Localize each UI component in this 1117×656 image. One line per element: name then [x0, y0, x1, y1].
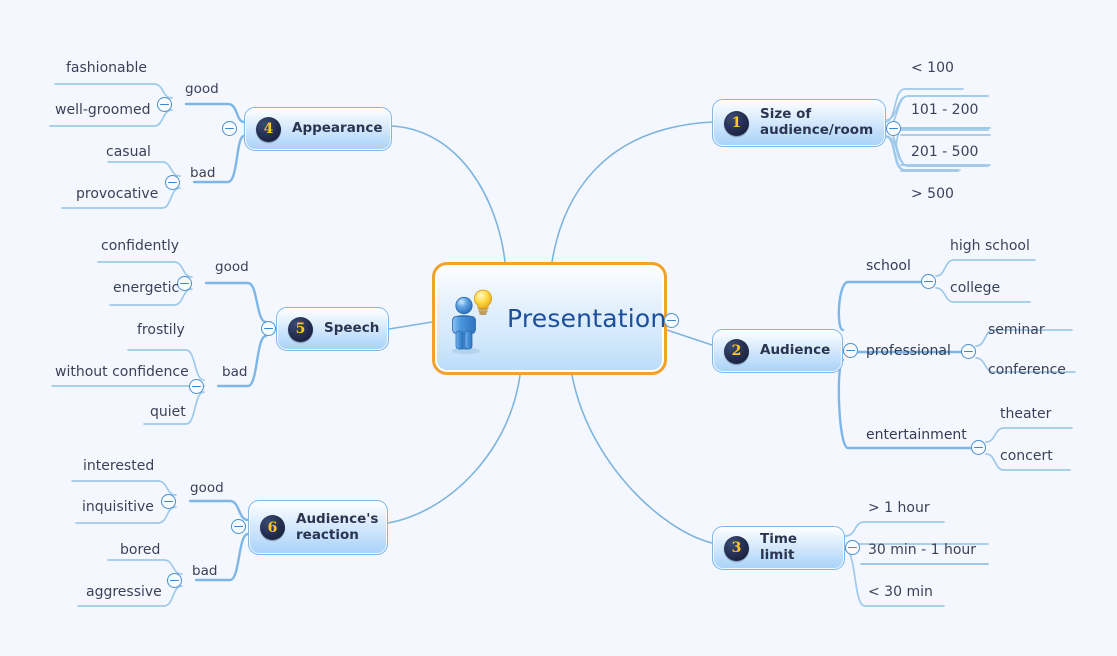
collapse-minus-icon-b6-good[interactable]: [161, 494, 176, 509]
branch-label-speech: Speech: [324, 321, 379, 337]
leaf-b2-entertainment-1[interactable]: concert: [1000, 448, 1053, 464]
branch-label-audiences-reaction: Audience's reaction: [296, 512, 378, 544]
wire-center-to-b4: [392, 126, 505, 262]
leaf-b1-1[interactable]: 101 - 200: [911, 102, 978, 118]
collapse-minus-icon-b4[interactable]: [222, 121, 237, 136]
wire-b6-good: [190, 501, 248, 520]
branch-number-badge-4: 4: [256, 117, 281, 142]
collapse-minus-icon-b2-entertainment[interactable]: [971, 440, 986, 455]
collapse-minus-icon-b2-professional[interactable]: [961, 344, 976, 359]
branch-number-badge-2: 2: [724, 339, 749, 364]
collapse-minus-icon-b5-good[interactable]: [177, 276, 192, 291]
branch-label-time-limit: Time limit: [760, 532, 831, 564]
leaf-b4-bad-0[interactable]: casual: [106, 144, 151, 160]
leaf-b4-good-0[interactable]: fashionable: [66, 60, 147, 76]
wire-center-to-b6: [388, 375, 520, 523]
collapse-minus-icon-b1[interactable]: [886, 121, 901, 136]
wire-center-to-b3: [572, 375, 712, 543]
leaf-b5-bad-0[interactable]: frostily: [137, 322, 185, 338]
leaf-b5-bad-2[interactable]: quiet: [150, 404, 186, 420]
branch-number-badge-1: 1: [724, 111, 749, 136]
wire-center-to-b5: [389, 322, 432, 329]
branch-node-speech[interactable]: 5 Speech: [276, 307, 389, 351]
node-b5-good[interactable]: good: [215, 259, 249, 275]
node-b5-bad[interactable]: bad: [222, 364, 247, 380]
branch-node-size-of-audience-room[interactable]: 1 Size of audience/room: [712, 99, 886, 147]
node-b2-professional[interactable]: professional: [866, 343, 951, 359]
leaf-b3-0[interactable]: > 1 hour: [868, 500, 930, 516]
leaf-b3-2[interactable]: < 30 min: [868, 584, 933, 600]
collapse-minus-icon-b4-bad[interactable]: [165, 175, 180, 190]
node-b4-bad[interactable]: bad: [190, 165, 215, 181]
branch-number-badge-5: 5: [288, 317, 313, 342]
leaf-b5-good-0[interactable]: confidently: [101, 238, 179, 254]
branch-node-audiences-reaction[interactable]: 6 Audience's reaction: [248, 500, 388, 555]
leaf-b5-good-1[interactable]: energetic: [113, 280, 179, 296]
node-b2-school[interactable]: school: [866, 258, 911, 274]
leaf-b2-school-0[interactable]: high school: [950, 238, 1030, 254]
collapse-minus-icon-b6[interactable]: [231, 519, 246, 534]
leaf-b2-entertainment-0[interactable]: theater: [1000, 406, 1051, 422]
branch-label-audience: Audience: [760, 343, 830, 359]
leaf-b2-professional-1[interactable]: conference: [988, 362, 1066, 378]
branch-label-appearance: Appearance: [292, 121, 383, 137]
leaf-b4-good-1[interactable]: well-groomed: [55, 102, 151, 118]
leaf-b6-good-0[interactable]: interested: [83, 458, 154, 474]
collapse-minus-icon-b3[interactable]: [845, 540, 860, 555]
leaf-b2-professional-0[interactable]: seminar: [988, 322, 1045, 338]
leaf-b6-bad-1[interactable]: aggressive: [86, 584, 162, 600]
collapse-minus-icon-center[interactable]: [664, 313, 679, 328]
leaf-b1-2[interactable]: 201 - 500: [911, 144, 978, 160]
leaf-b1-0[interactable]: < 100: [911, 60, 954, 76]
branch-number-badge-3: 3: [724, 536, 749, 561]
central-topic-label: Presentation: [507, 304, 666, 333]
node-b6-good[interactable]: good: [190, 480, 224, 496]
wire-center-to-b1: [552, 122, 712, 262]
leaf-b4-bad-1[interactable]: provocative: [76, 186, 158, 202]
node-b4-good[interactable]: good: [185, 81, 219, 97]
collapse-minus-icon-b4-good[interactable]: [157, 97, 172, 112]
leaf-b5-bad-1[interactable]: without confidence: [55, 364, 189, 380]
collapse-minus-icon-b2-school[interactable]: [921, 274, 936, 289]
branch-number-badge-6: 6: [260, 515, 285, 540]
collapse-minus-icon-b6-bad[interactable]: [167, 573, 182, 588]
central-topic-presentation[interactable]: Presentation: [432, 262, 667, 375]
branch-node-audience[interactable]: 2 Audience: [712, 329, 843, 373]
wire-b5-good: [206, 283, 266, 322]
node-b2-entertainment[interactable]: entertainment: [866, 427, 967, 443]
wire-b2-school: [839, 282, 922, 330]
collapse-minus-icon-b5[interactable]: [261, 321, 276, 336]
collapse-minus-icon-b5-bad[interactable]: [189, 379, 204, 394]
leaf-b2-school-1[interactable]: college: [950, 280, 1000, 296]
node-b6-bad[interactable]: bad: [192, 563, 217, 579]
leaf-b6-bad-0[interactable]: bored: [120, 542, 160, 558]
leaf-b6-good-1[interactable]: inquisitive: [82, 499, 154, 515]
branch-node-appearance[interactable]: 4 Appearance: [244, 107, 392, 151]
wire-b4-good: [186, 104, 244, 122]
branch-label-size-of-audience-room: Size of audience/room: [760, 107, 873, 139]
collapse-minus-icon-b2[interactable]: [843, 343, 858, 358]
wire-center-to-b2: [667, 330, 712, 345]
presenter-lightbulb-icon: [447, 283, 493, 355]
leaf-b3-1[interactable]: 30 min - 1 hour: [868, 542, 976, 558]
mindmap-canvas: Presentation 1 Size of audience/room < 1…: [0, 0, 1117, 656]
leaf-b1-3[interactable]: > 500: [911, 186, 954, 202]
branch-node-time-limit[interactable]: 3 Time limit: [712, 526, 845, 570]
